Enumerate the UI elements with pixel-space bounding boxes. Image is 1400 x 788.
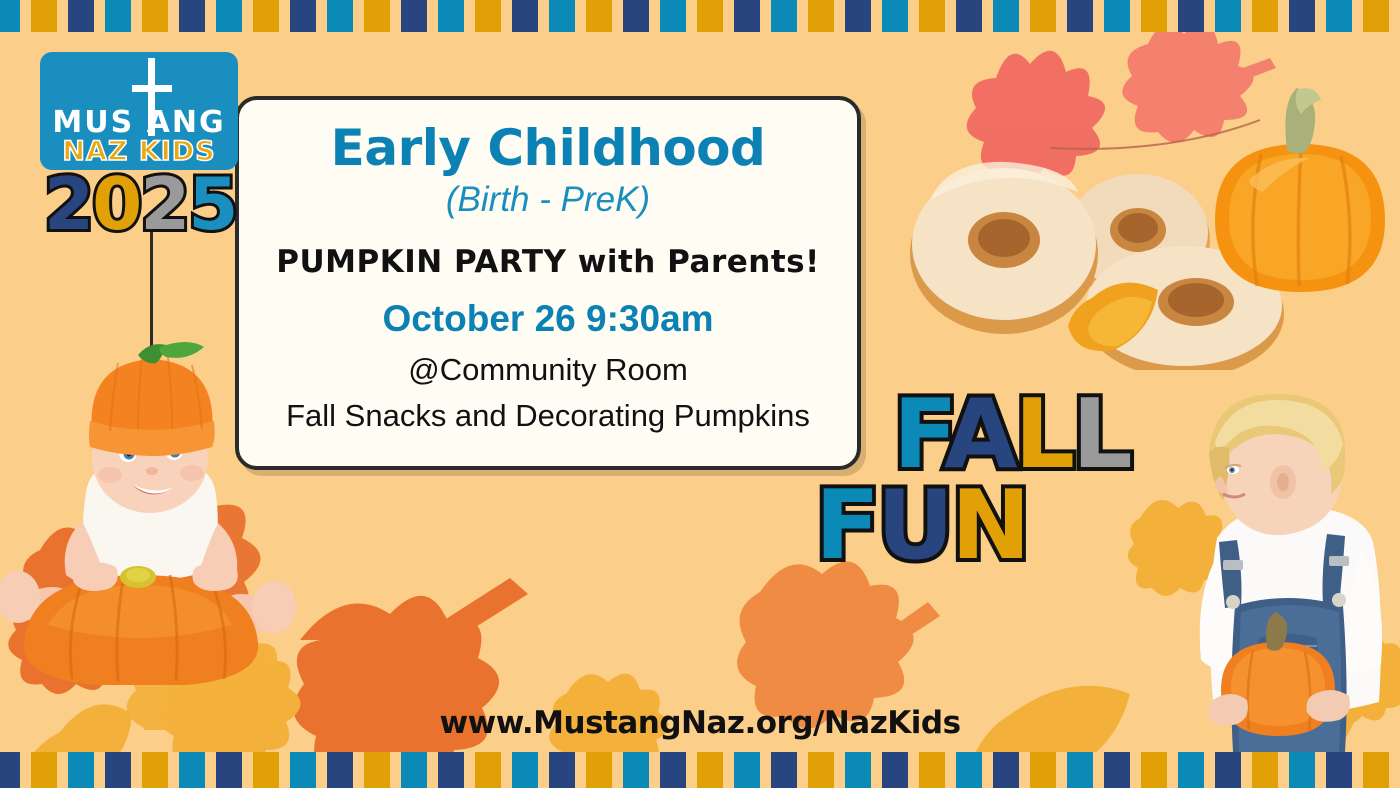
top-border-stripes (0, 0, 1400, 32)
border-stripe (1326, 0, 1352, 32)
border-stripe (808, 0, 834, 32)
border-stripe (438, 752, 464, 788)
border-stripe (327, 752, 353, 788)
fun-letter-2: U (877, 471, 951, 581)
orange-pumpkin-photo (1205, 70, 1395, 310)
wordart-fall: FALL (805, 392, 1130, 479)
border-stripe (1326, 752, 1352, 788)
fun-letter-3: N (951, 471, 1028, 581)
border-stripe (475, 752, 501, 788)
border-stripe (1178, 752, 1204, 788)
event-info-card: Early Childhood (Birth - PreK) PUMPKIN P… (235, 96, 861, 470)
year-digit-2: 0 (92, 162, 140, 246)
border-stripe (105, 752, 131, 788)
border-stripe (401, 752, 427, 788)
cross-icon (132, 58, 172, 136)
border-stripe (401, 0, 427, 32)
border-stripe (1252, 0, 1278, 32)
border-stripe (1067, 752, 1093, 788)
border-stripe (1252, 752, 1278, 788)
border-stripe (1030, 0, 1056, 32)
toddler-holding-pumpkin-photo (1175, 390, 1400, 752)
border-stripe (364, 752, 390, 788)
border-stripe (845, 752, 871, 788)
fun-letter-1: F (815, 471, 877, 581)
border-stripe (660, 752, 686, 788)
border-stripe (734, 752, 760, 788)
border-stripe (956, 0, 982, 32)
border-stripe (1141, 0, 1167, 32)
border-stripe (1178, 0, 1204, 32)
website-url[interactable]: www.MustangNaz.org/NazKids (0, 705, 1400, 741)
border-stripe (956, 752, 982, 788)
border-stripe (105, 0, 131, 32)
border-stripe (882, 752, 908, 788)
border-stripe (623, 0, 649, 32)
border-stripe (1104, 752, 1130, 788)
border-stripe (31, 752, 57, 788)
event-location: @Community Room (239, 352, 857, 388)
border-stripe (993, 752, 1019, 788)
border-stripe (586, 752, 612, 788)
border-stripe (1030, 752, 1056, 788)
border-stripe (1215, 0, 1241, 32)
border-stripe (216, 752, 242, 788)
event-activities: Fall Snacks and Decorating Pumpkins (239, 398, 857, 434)
border-stripe (1363, 0, 1389, 32)
event-headline: PUMPKIN PARTY with Parents! (239, 244, 857, 280)
flyer-canvas: MUS ANG NAZ KIDS 2025 Early Childhood (B… (0, 0, 1400, 788)
border-stripe (475, 0, 501, 32)
border-stripe (1289, 752, 1315, 788)
border-stripe (808, 752, 834, 788)
bottom-border-stripes (0, 752, 1400, 788)
border-stripe (0, 0, 20, 32)
border-stripe (1104, 0, 1130, 32)
border-stripe (1363, 752, 1389, 788)
border-stripe (253, 0, 279, 32)
wordart-fun: FUN (805, 483, 1130, 570)
border-stripe (623, 752, 649, 788)
border-stripe (549, 752, 575, 788)
year-digit-1: 2 (44, 162, 92, 246)
border-stripe (660, 0, 686, 32)
border-stripe (0, 752, 20, 788)
border-stripe (1215, 752, 1241, 788)
border-stripe (253, 752, 279, 788)
border-stripe (142, 0, 168, 32)
border-stripe (179, 0, 205, 32)
border-stripe (1067, 0, 1093, 32)
year-2025: 2025 (44, 168, 236, 240)
border-stripe (697, 752, 723, 788)
fall-letter-4: L (1072, 380, 1130, 490)
border-stripe (327, 0, 353, 32)
border-stripe (1141, 752, 1167, 788)
border-stripe (845, 0, 871, 32)
border-stripe (216, 0, 242, 32)
border-stripe (68, 752, 94, 788)
border-stripe (993, 0, 1019, 32)
event-datetime: October 26 9:30am (239, 298, 857, 340)
border-stripe (586, 0, 612, 32)
border-stripe (290, 0, 316, 32)
age-range-subtitle: (Birth - PreK) (239, 177, 857, 223)
border-stripe (882, 0, 908, 32)
border-stripe (697, 0, 723, 32)
border-stripe (919, 0, 945, 32)
mustang-naz-kids-logo[interactable]: MUS ANG NAZ KIDS (40, 52, 238, 170)
border-stripe (734, 0, 760, 32)
logo-nazkids-text: NAZ KIDS (40, 138, 238, 165)
border-stripe (438, 0, 464, 32)
border-stripe (290, 752, 316, 788)
border-stripe (179, 752, 205, 788)
border-stripe (364, 0, 390, 32)
border-stripe (771, 0, 797, 32)
page-title: Early Childhood (239, 122, 857, 175)
border-stripe (919, 752, 945, 788)
border-stripe (512, 752, 538, 788)
border-stripe (1289, 0, 1315, 32)
fall-fun-wordart: FALL FUN (805, 392, 1130, 571)
border-stripe (549, 0, 575, 32)
year-digit-4: 5 (188, 162, 236, 246)
border-stripe (512, 0, 538, 32)
border-stripe (68, 0, 94, 32)
border-stripe (771, 752, 797, 788)
border-stripe (31, 0, 57, 32)
border-stripe (142, 752, 168, 788)
year-digit-3: 2 (140, 162, 188, 246)
